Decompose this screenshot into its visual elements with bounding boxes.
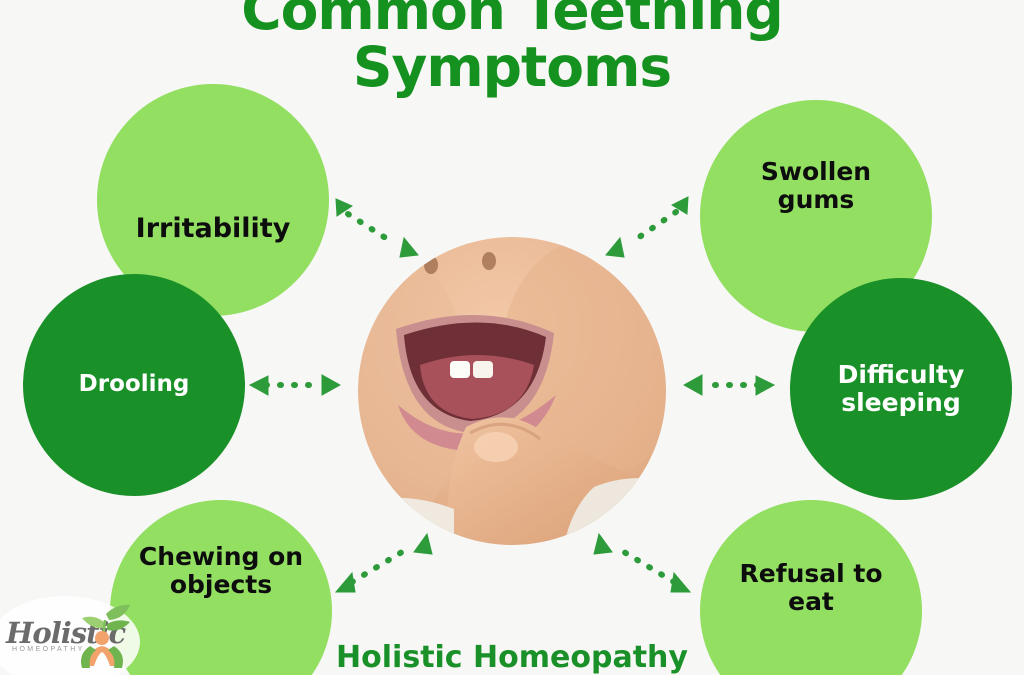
arrow-irritability — [336, 199, 418, 257]
symptom-label: Irritability — [136, 214, 291, 244]
symptom-label: Chewing on objects — [139, 543, 303, 599]
arrow-drooling — [250, 375, 340, 395]
center-baby-photo — [358, 237, 666, 545]
footer-brand-text: Holistic Homeopathy — [0, 640, 1024, 675]
symptom-label: Refusal to eat — [739, 560, 882, 616]
symptom-label: Drooling — [79, 372, 190, 398]
arrow-chewing — [336, 534, 432, 592]
logo-person-leaf-icon — [76, 602, 134, 668]
symptom-label: Difficulty sleeping — [838, 361, 965, 417]
brand-logo: Holistic HOMEOPATHY — [2, 602, 138, 675]
symptom-bubble-difficulty-sleeping: Difficulty sleeping — [790, 278, 1012, 500]
infographic-canvas: Common Teething Symptoms Irritability Sw… — [0, 0, 1024, 675]
arrow-refusal — [594, 534, 690, 592]
symptom-label: Swollen gums — [761, 158, 871, 214]
arrow-difficulty-sleeping — [684, 375, 774, 395]
page-title: Common Teething Symptoms — [0, 0, 1024, 95]
symptom-bubble-drooling: Drooling — [23, 274, 245, 496]
arrow-swollen-gums — [606, 197, 688, 257]
logo-subtext: HOMEOPATHY — [12, 646, 85, 653]
